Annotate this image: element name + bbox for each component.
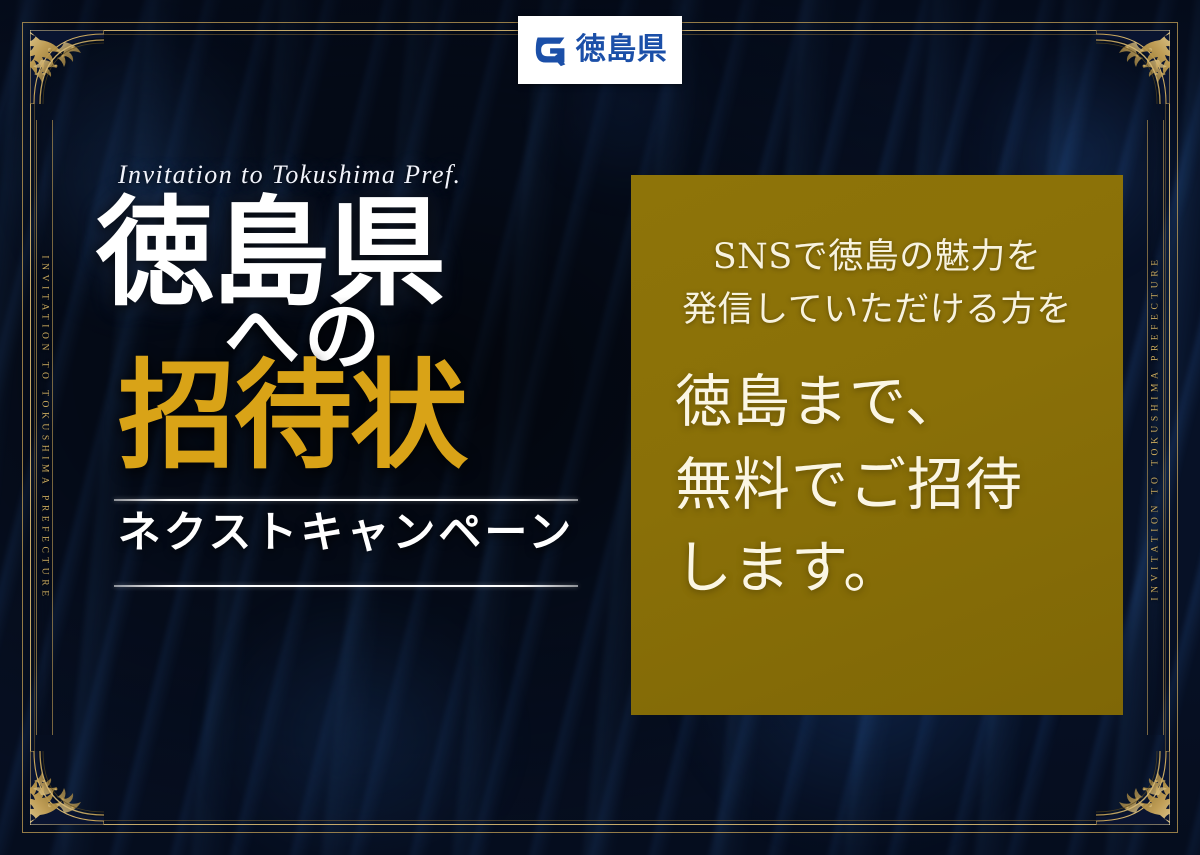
- offer-line-big-1: 徳島まで、: [631, 363, 1123, 442]
- side-rail-right: INVITATION TO TOKUSHIMA PREFECTURE: [1147, 120, 1164, 735]
- hero-title-gold: 招待状: [118, 357, 576, 475]
- tokushima-prefecture-logo: 徳島県: [518, 16, 682, 84]
- offer-line-small-2: 発信していただける方を: [631, 284, 1123, 337]
- logo-label: 徳島県: [576, 35, 668, 65]
- offer-line-big-3: します。: [631, 529, 1123, 608]
- side-rail-left: INVITATION TO TOKUSHIMA PREFECTURE: [36, 120, 53, 735]
- side-rail-right-text: INVITATION TO TOKUSHIMA PREFECTURE: [1151, 255, 1161, 600]
- side-rail-left-text: INVITATION TO TOKUSHIMA PREFECTURE: [40, 255, 50, 600]
- tokushima-pref-emblem-icon: [533, 33, 569, 67]
- offer-gold-panel: SNSで徳島の魅力を 発信していただける方を 徳島まで、 無料でご招待 します。: [631, 175, 1123, 715]
- invitation-banner: INVITATION TO TOKUSHIMA PREFECTURE INVIT…: [0, 0, 1200, 855]
- offer-line-small-1: SNSで徳島の魅力を: [631, 231, 1123, 284]
- hero-subtitle: ネクストキャンペーン: [114, 501, 578, 565]
- hero-text-block: Invitation to Tokushima Pref. 徳島県 への 招待状…: [96, 160, 576, 587]
- offer-line-big-2: 無料でご招待: [631, 446, 1123, 525]
- divider-bottom: [114, 585, 578, 587]
